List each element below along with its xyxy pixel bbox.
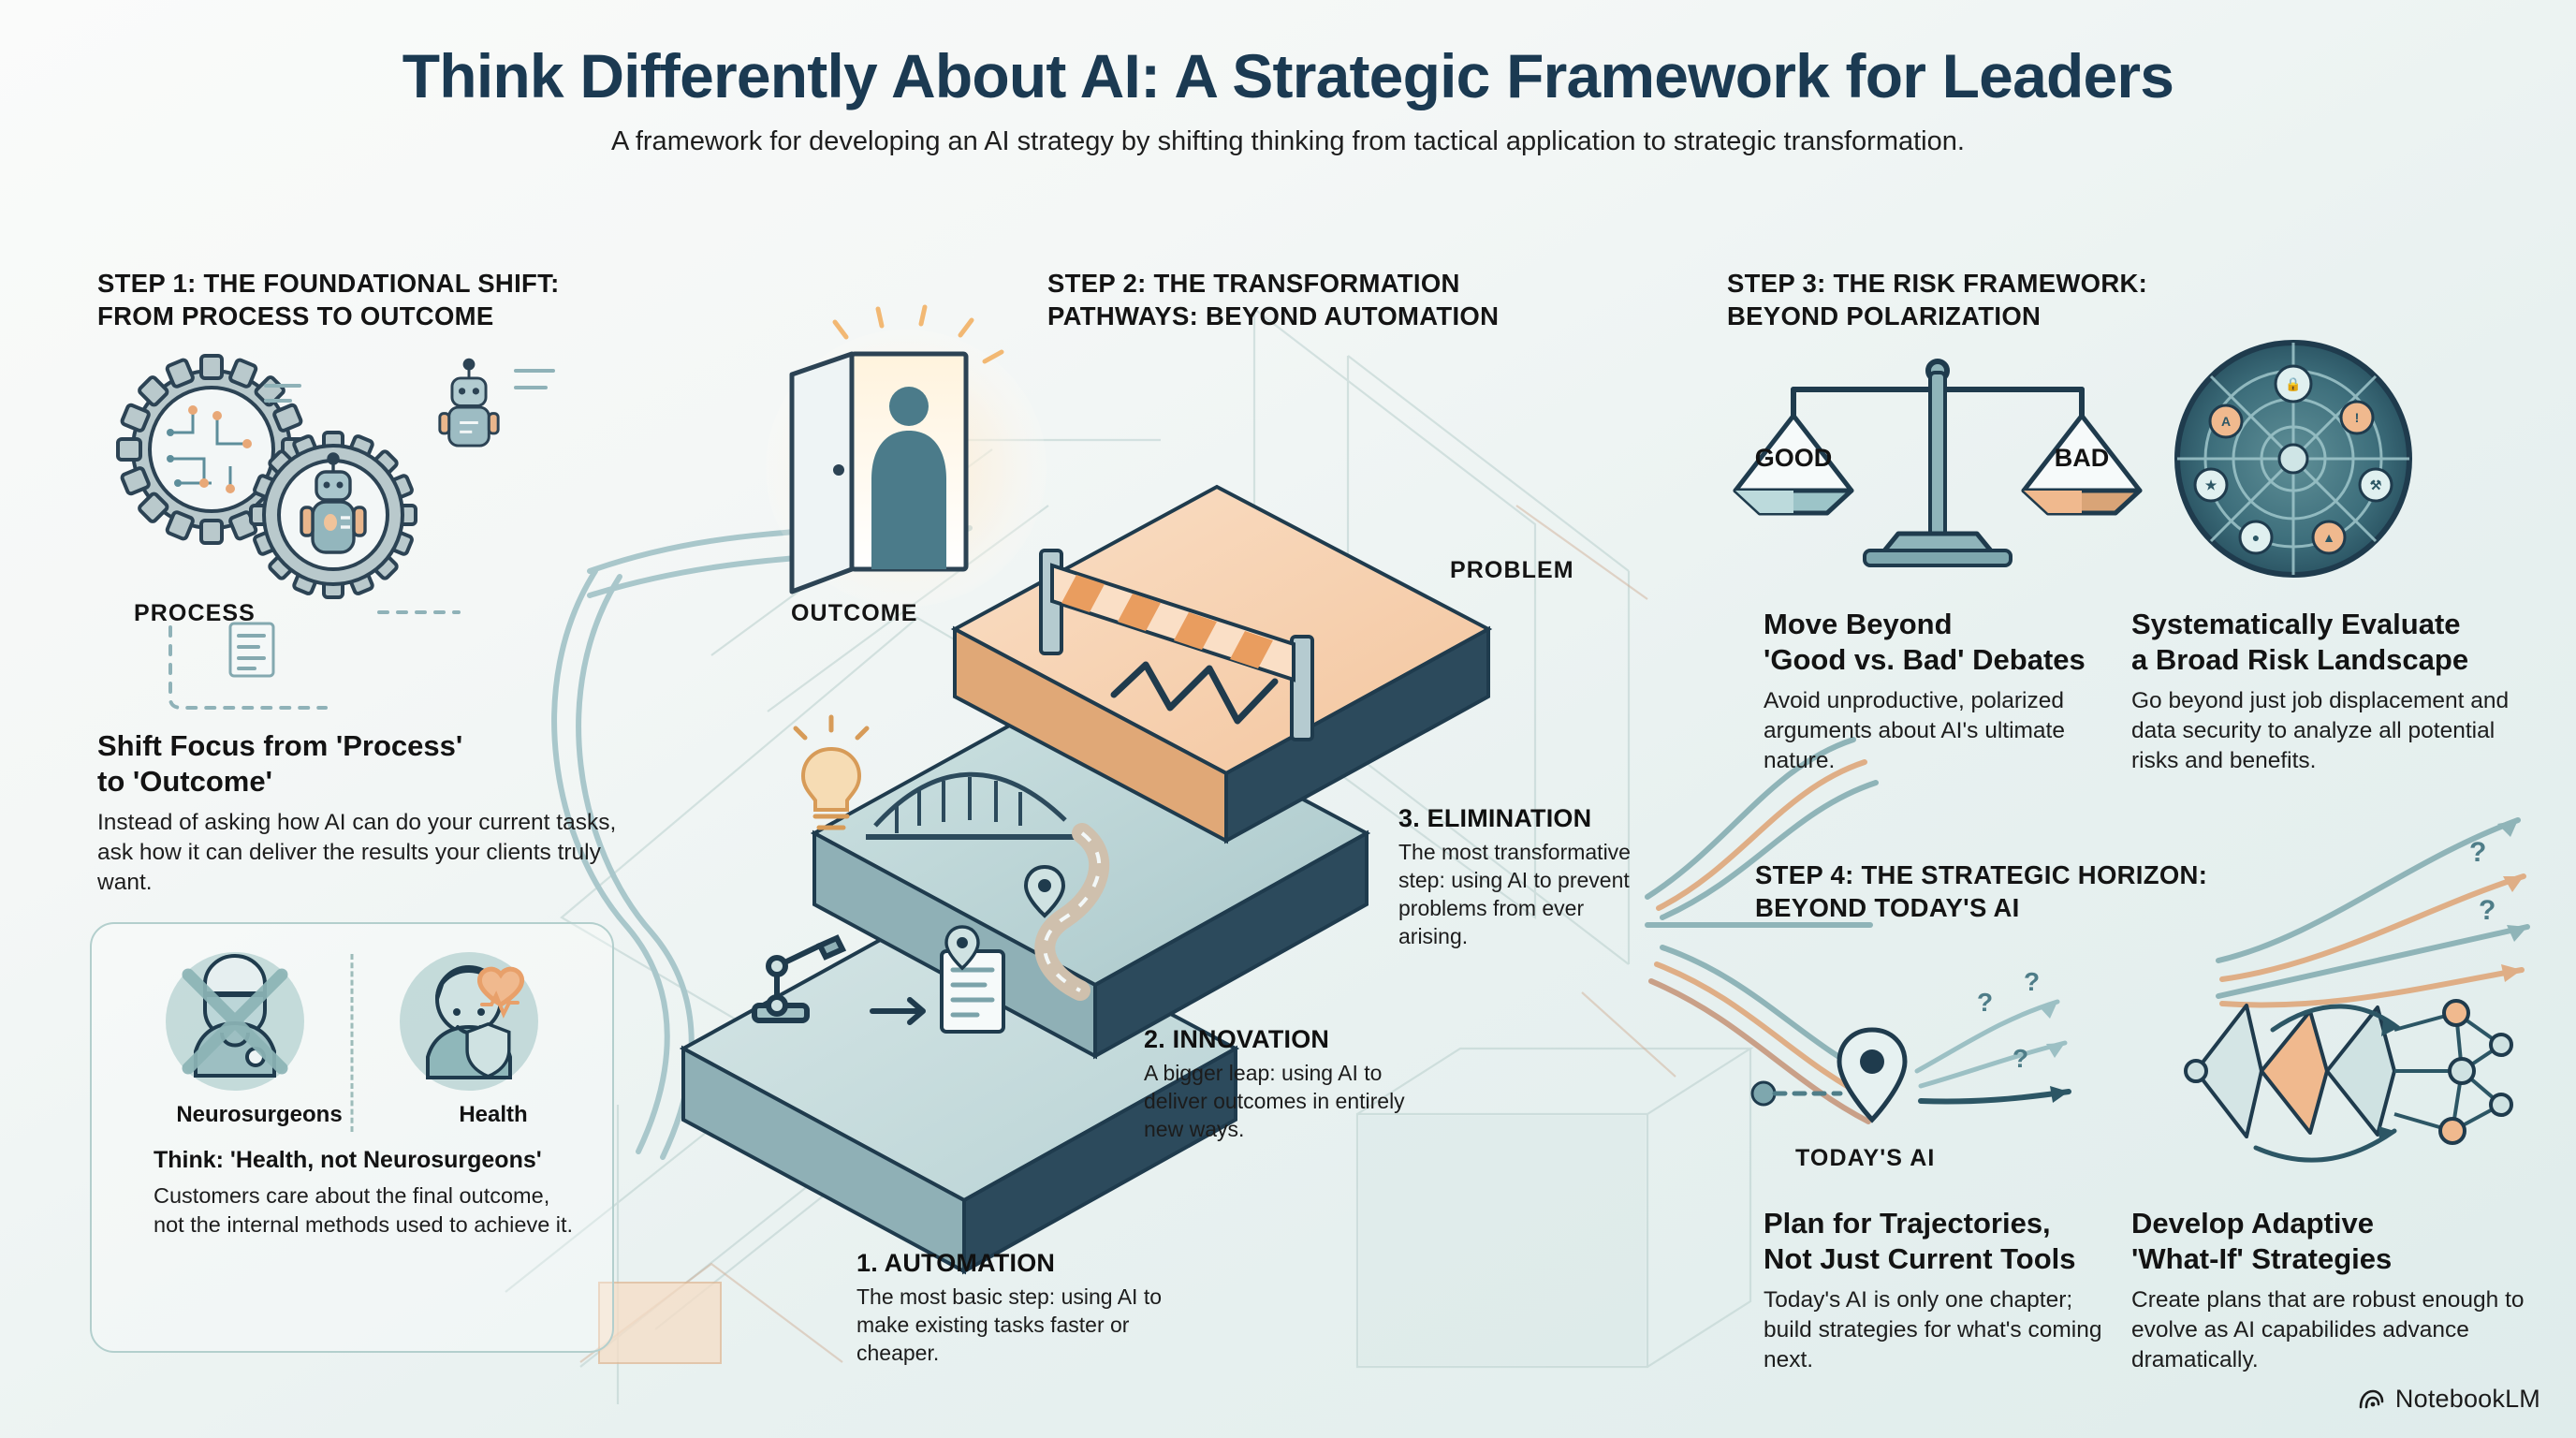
- document-icon: [230, 624, 273, 676]
- radar-node-tool-icon: ⚒: [2370, 477, 2382, 492]
- step-2-heading-line2: PATHWAYS: BEYOND AUTOMATION: [1047, 300, 1609, 332]
- pathway-automation-block: 1. AUTOMATION The most basic step: using…: [856, 1248, 1165, 1368]
- neurosurgeon-icon: [151, 943, 319, 1100]
- risk-card-systematically-evaluate-title: Systematically Evaluate a Broad Risk Lan…: [2131, 607, 2525, 678]
- callout-content: Neurosurgeons Health Think: 'Health, not…: [97, 930, 607, 1239]
- step-4-heading-line1: STEP 4: THE STRATEGIC HORIZON:: [1755, 858, 2279, 891]
- page-subtitle: A framework for developing an AI strateg…: [0, 126, 2576, 157]
- radar-node-people-icon: ●: [2252, 530, 2260, 545]
- label-process: PROCESS: [134, 600, 256, 627]
- risk-card-move-beyond-body: Avoid unproductive, polarized arguments …: [1764, 686, 2119, 777]
- question-mark-icon: ? ?: [2469, 837, 2495, 926]
- shift-focus-title-line2: to 'Outcome': [97, 764, 622, 800]
- label-problem: PROBLEM: [1450, 557, 1574, 584]
- label-todays-ai: TODAY'S AI: [1795, 1145, 1935, 1172]
- horizon-card-plan-trajectories-body: Today's AI is only one chapter; build st…: [1764, 1285, 2124, 1376]
- shift-focus-title: Shift Focus from 'Process' to 'Outcome': [97, 728, 622, 800]
- brand-footer: NotebookLM: [2357, 1385, 2540, 1414]
- pathway-innovation-block: 2. INNOVATION A bigger leap: using AI to…: [1144, 1024, 1415, 1144]
- pathway-automation-title: 1. AUTOMATION: [856, 1248, 1165, 1278]
- horizon-card-develop-adaptive-title: Develop Adaptive 'What-If' Strategies: [2131, 1206, 2525, 1277]
- pathway-elimination-body: The most transformative step: using AI t…: [1398, 839, 1632, 951]
- horizon-card-plan-trajectories: Plan for Trajectories, Not Just Current …: [1764, 1206, 2124, 1376]
- step-2-heading: STEP 2: THE TRANSFORMATION PATHWAYS: BEY…: [1047, 267, 1609, 332]
- step-3-heading-line1: STEP 3: THE RISK FRAMEWORK:: [1727, 267, 2232, 300]
- pathway-elimination-block: 3. ELIMINATION The most transformative s…: [1398, 803, 1632, 951]
- callout-persons: [118, 943, 586, 1100]
- callout-body-text: Customers care about the final outcome, …: [154, 1181, 586, 1239]
- label-outcome: OUTCOME: [791, 600, 917, 627]
- horizon-card-develop-adaptive-title-line1: Develop Adaptive: [2131, 1206, 2525, 1241]
- horizon-card-develop-adaptive: Develop Adaptive 'What-If' Strategies Cr…: [2131, 1206, 2525, 1376]
- step-2-heading-line1: STEP 2: THE TRANSFORMATION: [1047, 267, 1609, 300]
- callout-think-text: Think: 'Health, not Neurosurgeons': [154, 1147, 586, 1174]
- scale-label-good: GOOD: [1755, 444, 1833, 472]
- risk-card-move-beyond-title-line1: Move Beyond: [1764, 607, 2119, 642]
- shift-focus-title-line1: Shift Focus from 'Process': [97, 728, 622, 764]
- risk-radar-illustration: 🔒 ! ⚒ ▲ ● ★ A: [2153, 335, 2434, 588]
- notebooklm-icon: [2357, 1386, 2385, 1414]
- step-4-heading: STEP 4: THE STRATEGIC HORIZON: BEYOND TO…: [1755, 858, 2279, 924]
- horizon-card-plan-trajectories-title: Plan for Trajectories, Not Just Current …: [1764, 1206, 2124, 1277]
- robot-icon: [440, 359, 498, 446]
- step-1-heading: STEP 1: THE FOUNDATIONAL SHIFT: FROM PRO…: [97, 267, 622, 332]
- radar-node-doc-icon: A: [2221, 414, 2231, 429]
- header: Think Differently About AI: A Strategic …: [0, 43, 2576, 157]
- pathway-innovation-title: 2. INNOVATION: [1144, 1024, 1415, 1054]
- step-1-heading-line1: STEP 1: THE FOUNDATIONAL SHIFT:: [97, 267, 622, 300]
- risk-card-systematically-evaluate: Systematically Evaluate a Broad Risk Lan…: [2131, 607, 2525, 777]
- horizon-card-develop-adaptive-body: Create plans that are robust enough to e…: [2131, 1285, 2525, 1376]
- scale-pan-bad: BAD: [2024, 416, 2140, 513]
- pathway-automation-body: The most basic step: using AI to make ex…: [856, 1284, 1165, 1368]
- svg-text:?: ?: [2469, 837, 2486, 868]
- pathway-elimination-title: 3. ELIMINATION: [1398, 803, 1632, 833]
- shift-focus-body: Instead of asking how AI can do your cur…: [97, 808, 622, 899]
- svg-text:?: ?: [2012, 1044, 2028, 1073]
- step-4-heading-line2: BEYOND TODAY'S AI: [1755, 891, 2279, 924]
- pathway-innovation-body: A bigger leap: using AI to deliver outco…: [1144, 1060, 1415, 1144]
- risk-card-move-beyond-title-line2: 'Good vs. Bad' Debates: [1764, 642, 2119, 678]
- svg-text:?: ?: [2479, 895, 2495, 926]
- svg-text:?: ?: [2024, 967, 2040, 996]
- horizon-card-develop-adaptive-title-line2: 'What-If' Strategies: [2131, 1241, 2525, 1277]
- step-3-heading: STEP 3: THE RISK FRAMEWORK: BEYOND POLAR…: [1727, 267, 2232, 332]
- scale-pan-good: GOOD: [1735, 416, 1851, 513]
- balance-scale-illustration: GOOD BAD: [1741, 346, 2134, 580]
- svg-text:?: ?: [1977, 988, 1993, 1017]
- risk-card-systematically-evaluate-body: Go beyond just job displacement and data…: [2131, 686, 2525, 777]
- risk-card-systematically-evaluate-title-line2: a Broad Risk Landscape: [2131, 642, 2525, 678]
- map-pin-icon: [1839, 1030, 1905, 1120]
- horizon-card-plan-trajectories-title-line2: Not Just Current Tools: [1764, 1241, 2124, 1277]
- radar-node-lock-icon: 🔒: [2285, 376, 2301, 392]
- horizon-card-plan-trajectories-title-line1: Plan for Trajectories,: [1764, 1206, 2124, 1241]
- scale-label-bad: BAD: [2055, 444, 2110, 472]
- brand-name: NotebookLM: [2395, 1385, 2540, 1414]
- process-gears-illustration: [90, 337, 614, 618]
- callout-divider: [351, 954, 354, 1132]
- radar-node-alert-icon: !: [2355, 410, 2360, 425]
- callout-label-neurosurgeons: Neurosurgeons: [176, 1102, 342, 1128]
- todays-ai-trajectory-illustration: ? ? ?: [1743, 974, 2136, 1142]
- risk-card-move-beyond: Move Beyond 'Good vs. Bad' Debates Avoid…: [1764, 607, 2119, 777]
- callout-label-health: Health: [459, 1102, 527, 1128]
- step-3-heading-line2: BEYOND POLARIZATION: [1727, 300, 2232, 332]
- shift-focus-block: Shift Focus from 'Process' to 'Outcome' …: [97, 728, 622, 899]
- step-1-heading-line2: FROM PROCESS TO OUTCOME: [97, 300, 622, 332]
- risk-card-move-beyond-title: Move Beyond 'Good vs. Bad' Debates: [1764, 607, 2119, 678]
- radar-node-shield-icon: ★: [2205, 477, 2217, 492]
- document-icon: [942, 951, 1003, 1032]
- adaptive-network-illustration: [2144, 974, 2518, 1170]
- radar-node-chart-icon: ▲: [2322, 530, 2335, 545]
- health-person-icon: [385, 943, 553, 1100]
- risk-card-systematically-evaluate-title-line1: Systematically Evaluate: [2131, 607, 2525, 642]
- page-title: Think Differently About AI: A Strategic …: [0, 43, 2576, 110]
